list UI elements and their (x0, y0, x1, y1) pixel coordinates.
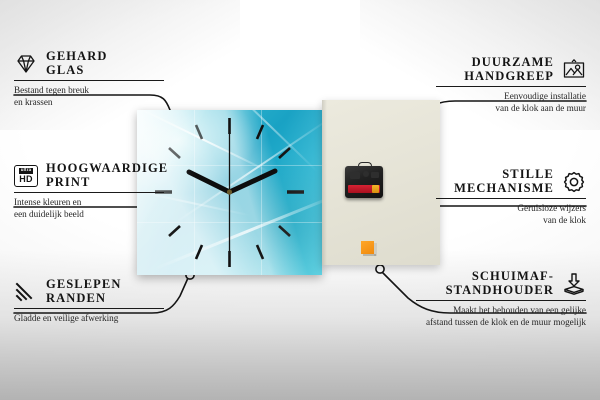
feature-titles: STILLE MECHANISME (454, 168, 554, 195)
feature-hoogwaardige-print: ultra HD HOOGWAARDIGE PRINT Intense kleu… (14, 162, 164, 220)
clock-back-panel (322, 100, 440, 265)
feature-divider (436, 86, 586, 87)
feature-stille-mechanisme: STILLE MECHANISME Geruisloze wijzers van… (436, 168, 586, 226)
feature-divider (416, 300, 586, 301)
feature-title-line2: HANDGREEP (464, 70, 554, 84)
feature-header: GESLEPEN RANDEN (14, 278, 164, 305)
spacer-shadow (363, 254, 376, 256)
square-glass-wall-clock (137, 110, 322, 275)
foam-spacer-icon (562, 272, 586, 296)
feature-schuimafstandhouder: SCHUIMAF- STANDHOUDER Maakt het behouden… (416, 270, 586, 328)
feature-description: Bestand tegen breuk en krassen (14, 84, 164, 108)
feature-description: Maakt het behouden van een gelijke afsta… (416, 304, 586, 328)
feature-titles: HOOGWAARDIGE PRINT (46, 162, 168, 189)
clock-minute-hand (230, 171, 276, 192)
feature-title-line1: GESLEPEN (46, 278, 122, 292)
feature-header: ultra HD HOOGWAARDIGE PRINT (14, 162, 164, 189)
orange-foam-spacer (361, 241, 376, 256)
feature-title-line1: HOOGWAARDIGE (46, 162, 168, 176)
feature-description: Eenvoudige installatie van de klok aan d… (436, 90, 586, 114)
clock-hour-hand (189, 172, 230, 192)
ultra-hd-badge-icon: ultra HD (14, 165, 38, 187)
feature-titles: GEHARD GLAS (46, 50, 107, 77)
badge-ultra-label: ultra (19, 168, 34, 174)
diamond-icon (14, 52, 38, 76)
feature-header: SCHUIMAF- STANDHOUDER (416, 270, 586, 297)
feature-title-line2: GLAS (46, 64, 107, 78)
quartz-clock-movement (345, 162, 383, 198)
feature-gehard-glas: GEHARD GLAS Bestand tegen breuk en krass… (14, 50, 164, 108)
feature-title-line1: STILLE (454, 168, 554, 182)
feature-divider (14, 192, 164, 193)
movement-detail (350, 172, 360, 179)
badge-hd-label: HD (19, 175, 33, 184)
movement-detail (363, 171, 369, 177)
feature-description: Intense kleuren en een duidelijk beeld (14, 196, 164, 220)
feature-divider (14, 308, 164, 309)
feature-description: Gladde en veilige afwerking (14, 312, 164, 324)
feature-titles: SCHUIMAF- STANDHOUDER (446, 270, 554, 297)
feature-geslepen-randen: GESLEPEN RANDEN Gladde en veilige afwerk… (14, 278, 164, 324)
connector-dot-schuimafstandhouder (376, 265, 384, 273)
battery-plus-terminal (372, 185, 379, 193)
framed-picture-icon (562, 58, 586, 82)
feature-titles: GESLEPEN RANDEN (46, 278, 122, 305)
beveled-edges-icon (14, 280, 38, 304)
gear-icon (562, 170, 586, 194)
feature-header: DUURZAME HANDGREEP (436, 56, 586, 83)
clock-center-cap (227, 189, 232, 194)
feature-title-line1: GEHARD (46, 50, 107, 64)
feature-titles: DUURZAME HANDGREEP (464, 56, 554, 83)
feature-description: Geruisloze wijzers van de klok (436, 202, 586, 226)
movement-detail (371, 172, 379, 178)
spacer-top (361, 241, 374, 254)
feature-divider (14, 80, 164, 81)
feature-title-line2: PRINT (46, 176, 168, 190)
infographic-canvas: GEHARD GLAS Bestand tegen breuk en krass… (0, 0, 600, 400)
panel-edge-shadow (322, 100, 327, 265)
clock-hands (137, 110, 322, 275)
feature-divider (436, 198, 586, 199)
feature-title-line2: RANDEN (46, 292, 122, 306)
feature-title-line2: STANDHOUDER (446, 284, 554, 298)
feature-title-line1: DUURZAME (464, 56, 554, 70)
feature-title-line1: SCHUIMAF- (446, 270, 554, 284)
feature-duurzame-handgreep: DUURZAME HANDGREEP Eenvoudige installati… (436, 56, 586, 114)
feature-header: STILLE MECHANISME (436, 168, 586, 195)
feature-header: GEHARD GLAS (14, 50, 164, 77)
feature-title-line2: MECHANISME (454, 182, 554, 196)
